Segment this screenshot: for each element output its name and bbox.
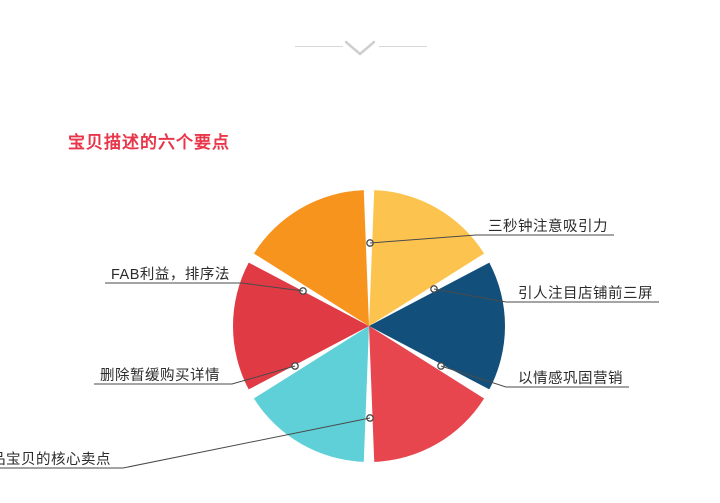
- callout-label-1: 引人注目店铺前三屏: [518, 282, 653, 303]
- callout-label-2: 以情感巩固营销: [518, 367, 623, 388]
- slide-canvas: 宝贝描述的六个要点 三秒钟注意吸引力 引人注目店铺前三屏 以情感巩固营销 产品宝…: [0, 0, 720, 503]
- chevron-down-icon: [342, 36, 378, 60]
- page-title: 宝贝描述的六个要点: [68, 128, 230, 153]
- divider-line-left: [295, 46, 343, 47]
- callout-label-4: 删除暂缓购买详情: [100, 364, 220, 385]
- divider-line-right: [379, 46, 427, 47]
- callout-label-0: 三秒钟注意吸引力: [488, 215, 608, 236]
- callout-label-3: 产品宝贝的核心卖点: [0, 448, 111, 469]
- pie-chart-svg: [233, 190, 505, 462]
- callout-label-5: FAB利益，排序法: [111, 263, 230, 284]
- pie-chart: [233, 190, 505, 462]
